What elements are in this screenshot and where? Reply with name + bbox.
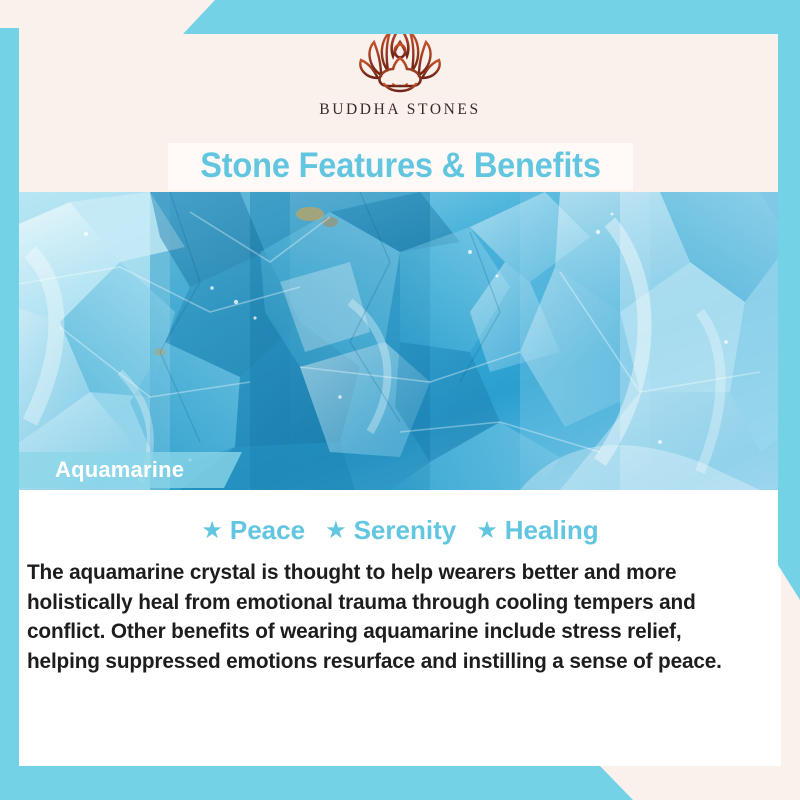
aquamarine-crystal-photo xyxy=(0,192,800,490)
keyword-healing: Healing xyxy=(505,515,599,546)
star-icon: ★ xyxy=(476,516,498,545)
page-title: Stone Features & Benefits xyxy=(184,146,616,186)
bottom-accent-band xyxy=(0,766,800,800)
lotus-meditation-icon xyxy=(348,24,452,96)
star-icon: ★ xyxy=(325,516,347,545)
brand-logo: BUDDHA STONES xyxy=(0,24,800,119)
keyword-peace: Peace xyxy=(230,515,305,546)
stone-label-text: Aquamarine xyxy=(55,457,184,483)
left-accent-band xyxy=(0,28,19,800)
infographic-page: BUDDHA STONES Stone Features & Benefits xyxy=(0,0,800,800)
description-paragraph: The aquamarine crystal is thought to hel… xyxy=(27,558,749,676)
right-accent-band xyxy=(778,0,800,600)
keyword-row: ★Peace★Serenity★Healing xyxy=(0,515,800,546)
hero-image xyxy=(0,192,800,490)
star-icon: ★ xyxy=(201,516,223,545)
stone-label-chip: Aquamarine xyxy=(19,452,242,488)
brand-name: BUDDHA STONES xyxy=(319,101,480,119)
keyword-serenity: Serenity xyxy=(354,515,457,546)
